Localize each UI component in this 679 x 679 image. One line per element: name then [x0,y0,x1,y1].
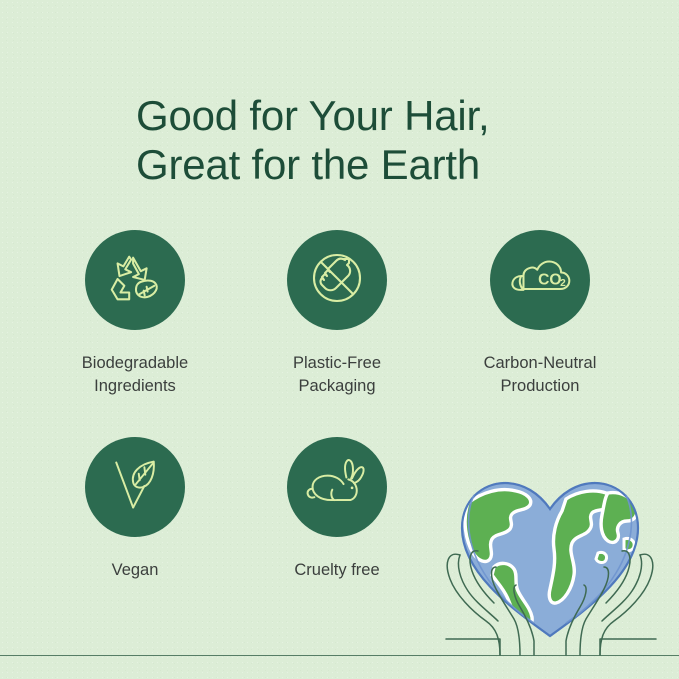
badge-biodegradable: Biodegradable Ingredients [55,230,215,398]
bottom-divider [0,655,679,656]
badge-icon-circle [85,230,185,330]
badge-icon-circle [287,437,387,537]
badge-plastic-free: Plastic-Free Packaging [257,230,417,398]
badge-cruelty-free: Cruelty free [257,437,417,582]
badge-vegan: Vegan [55,437,215,582]
badge-icon-circle [287,230,387,330]
recycle-leaf-icon [104,247,166,314]
badge-icon-circle [85,437,185,537]
page-title: Good for Your Hair, Great for the Earth [136,91,656,189]
badge-caption: Cruelty free [257,559,417,582]
svg-text:CO: CO [538,271,561,288]
heart-earth-in-hands-illustration [438,443,663,663]
badge-caption: Biodegradable Ingredients [55,352,215,398]
badge-carbon-neutral: CO 2 Carbon-Neutral Production [460,230,620,398]
badge-caption: Plastic-Free Packaging [257,352,417,398]
badge-icon-circle: CO 2 [490,230,590,330]
badge-caption: Carbon-Neutral Production [460,352,620,398]
svg-text:2: 2 [560,278,566,289]
co2-cloud-leaf-icon: CO 2 [507,245,573,316]
rabbit-icon [305,456,369,519]
badge-caption: Vegan [55,559,215,582]
vegan-leaf-v-icon [106,455,164,520]
no-plastic-bottle-icon [305,246,369,315]
